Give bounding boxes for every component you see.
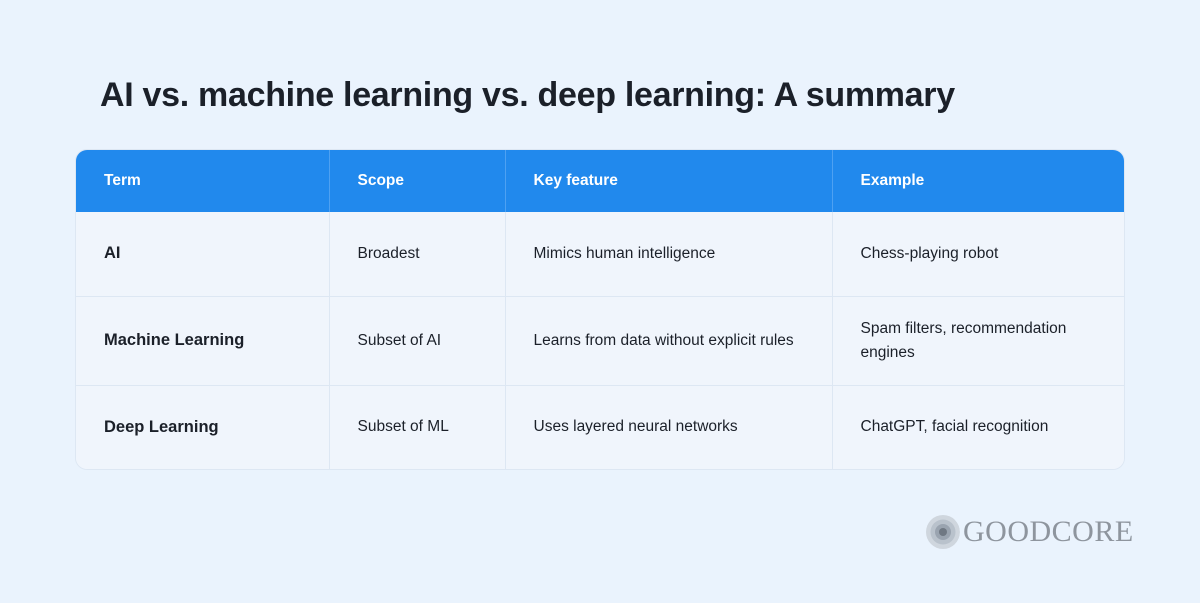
cell-example: ChatGPT, facial recognition: [832, 385, 1125, 469]
cell-example: Spam filters, recommendation engines: [832, 296, 1125, 385]
column-header-example: Example: [832, 150, 1125, 212]
cell-key-feature: Learns from data without explicit rules: [505, 296, 832, 385]
cell-term: Machine Learning: [76, 296, 329, 385]
concentric-circles-icon: [925, 514, 961, 550]
table-row: Deep Learning Subset of ML Uses layered …: [76, 385, 1125, 469]
table-header: Term Scope Key feature Example: [76, 150, 1125, 212]
table-body: AI Broadest Mimics human intelligence Ch…: [76, 212, 1125, 469]
cell-scope: Subset of AI: [329, 296, 505, 385]
table-header-row: Term Scope Key feature Example: [76, 150, 1125, 212]
cell-term: Deep Learning: [76, 385, 329, 469]
column-header-term: Term: [76, 150, 329, 212]
brand-logo: GOODCORE: [925, 514, 1134, 550]
cell-key-feature: Uses layered neural networks: [505, 385, 832, 469]
summary-table: Term Scope Key feature Example AI Broade…: [76, 150, 1125, 469]
table-row: Machine Learning Subset of AI Learns fro…: [76, 296, 1125, 385]
page-title: AI vs. machine learning vs. deep learnin…: [100, 75, 1110, 116]
column-header-key-feature: Key feature: [505, 150, 832, 212]
cell-scope: Broadest: [329, 212, 505, 296]
table-row: AI Broadest Mimics human intelligence Ch…: [76, 212, 1125, 296]
summary-table-container: Term Scope Key feature Example AI Broade…: [75, 149, 1125, 470]
brand-logo-text: GOODCORE: [963, 517, 1134, 547]
page-root: AI vs. machine learning vs. deep learnin…: [0, 0, 1200, 603]
cell-key-feature: Mimics human intelligence: [505, 212, 832, 296]
cell-term: AI: [76, 212, 329, 296]
column-header-scope: Scope: [329, 150, 505, 212]
cell-example: Chess-playing robot: [832, 212, 1125, 296]
cell-scope: Subset of ML: [329, 385, 505, 469]
